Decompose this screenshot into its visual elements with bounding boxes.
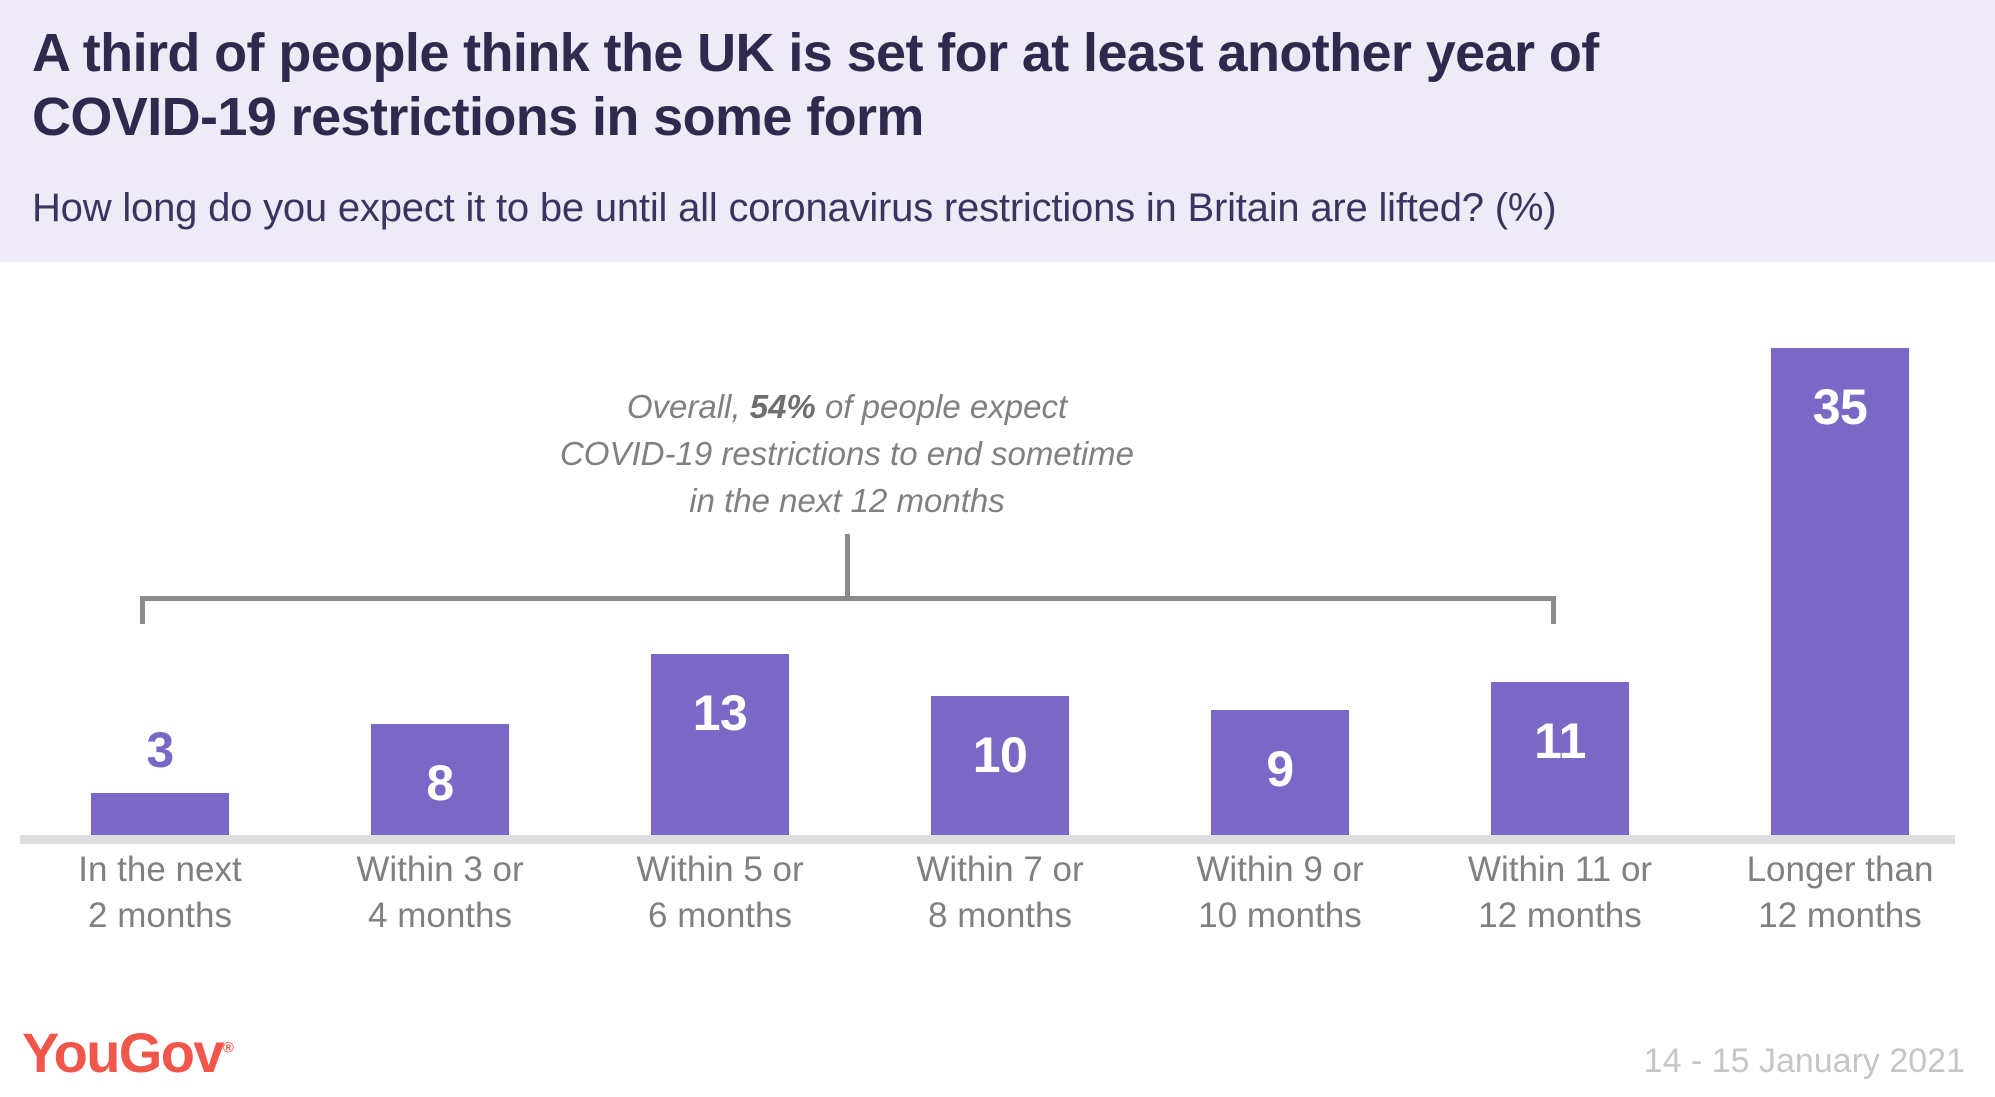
bar-group[interactable]: 9 [1140, 262, 1420, 835]
bar-group[interactable]: 8 [300, 262, 580, 835]
bar-group[interactable]: 35 [1700, 262, 1980, 835]
x-axis-labels: In the next 2 monthsWithin 3 or 4 months… [0, 847, 1995, 987]
bar-value-label: 8 [426, 754, 453, 812]
bar-group[interactable]: 3 [20, 262, 300, 835]
bar-value-label: 10 [973, 726, 1028, 784]
yougov-logo: YouGov® [22, 1025, 234, 1081]
bar[interactable] [91, 793, 229, 835]
registered-trademark-icon: ® [223, 1039, 234, 1056]
bar[interactable] [651, 654, 789, 835]
chart-plot-area: Overall, 54% of people expect COVID-19 r… [0, 262, 1995, 1097]
bar-value-label: 9 [1266, 740, 1293, 798]
yougov-logo-text: YouGov [22, 1021, 223, 1084]
x-axis-label: Within 3 or 4 months [300, 847, 580, 939]
bar-value-label: 13 [693, 684, 748, 742]
bar-group[interactable]: 11 [1420, 262, 1700, 835]
fieldwork-date: 14 - 15 January 2021 [1644, 1042, 1965, 1081]
bar-group[interactable]: 10 [860, 262, 1140, 835]
bar-value-label: 35 [1813, 378, 1868, 436]
chart-subtitle: How long do you expect it to be until al… [32, 185, 1972, 231]
page-title: A third of people think the UK is set fo… [32, 22, 1932, 149]
x-axis-label: Within 5 or 6 months [580, 847, 860, 939]
bar-series: 38131091135 [0, 262, 1995, 835]
x-axis-label: Within 11 or 12 months [1420, 847, 1700, 939]
chart-header: A third of people think the UK is set fo… [0, 0, 1995, 262]
bar-group[interactable]: 13 [580, 262, 860, 835]
x-axis-label: Within 7 or 8 months [860, 847, 1140, 939]
axis-baseline [20, 835, 1955, 844]
bar-value-label: 3 [146, 721, 173, 779]
x-axis-label: Longer than 12 months [1700, 847, 1980, 939]
x-axis-label: Within 9 or 10 months [1140, 847, 1420, 939]
x-axis-label: In the next 2 months [20, 847, 300, 939]
bar-value-label: 11 [1534, 712, 1586, 770]
